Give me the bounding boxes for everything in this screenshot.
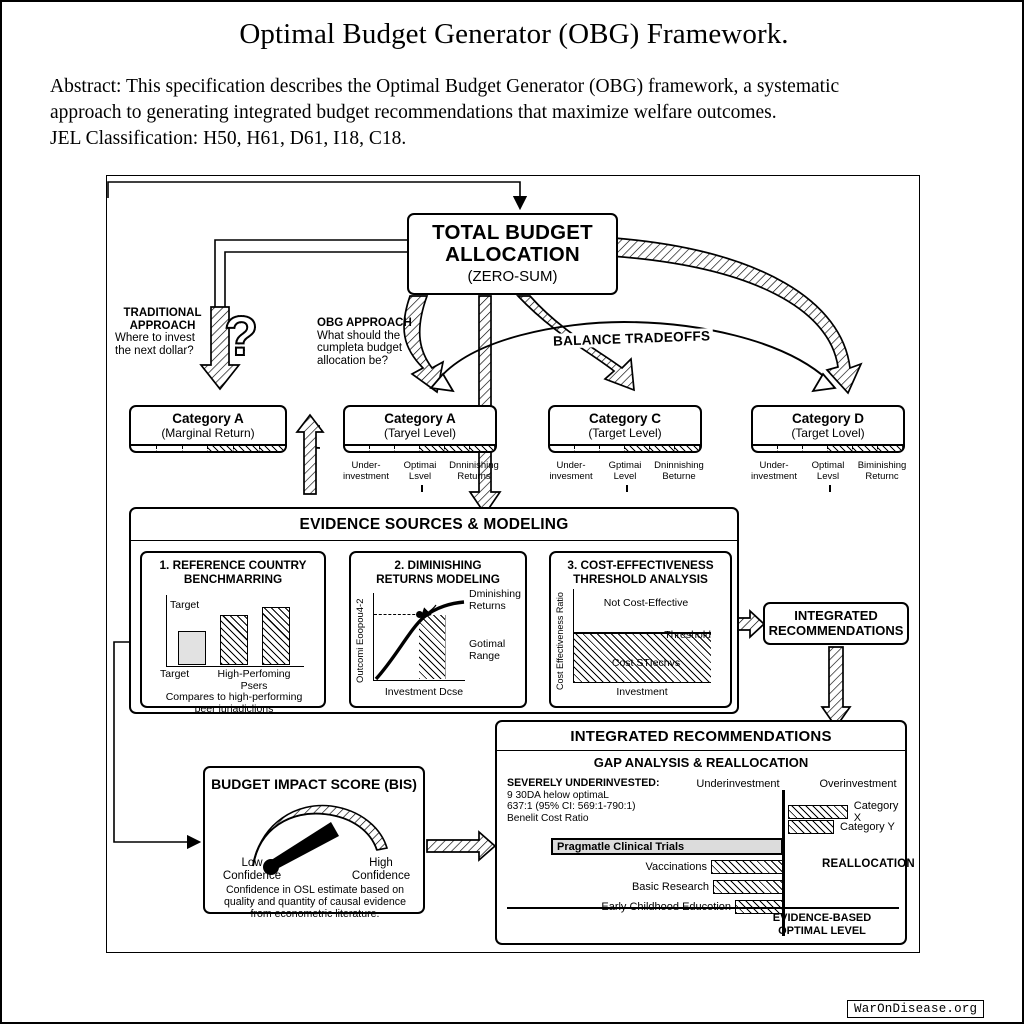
bis-low-label: Low Confidence: [217, 857, 287, 882]
category-box-d[interactable]: Category D (Target Lovel): [751, 405, 905, 453]
tba-line1: TOTAL BUDGET: [432, 222, 593, 244]
dr-xlabel: Investment Dcse: [369, 686, 479, 698]
traditional-approach-caption: TRADITIONAL APPROACH Where to invest the…: [115, 307, 210, 358]
dr-note-diminishing: Dminishing Returns: [469, 589, 521, 612]
optimal-level-pointer-icon: [416, 452, 424, 453]
diagram-page: Optimal Budget Generator (OBG) Framework…: [0, 0, 1024, 1024]
abstract-line-3: JEL Classification: H50, H61, D61, I18, …: [50, 126, 990, 152]
optimal-tick-d: [829, 485, 831, 492]
category-name: Category D: [753, 411, 903, 426]
highlighted-bar-row[interactable]: Pragmatle Clinical Trials: [551, 838, 783, 855]
bar-row-basic-research[interactable]: Basic Research: [617, 880, 783, 894]
sev-line-3: Benelit Cost Ratio: [507, 813, 697, 825]
category-bar: [131, 444, 285, 453]
page-title: Optimal Budget Generator (OBG) Framework…: [2, 18, 1024, 51]
zone-label-under: Under- investment: [747, 461, 801, 482]
optimal-tick-c: [626, 485, 628, 492]
tba-line3: (ZERO-SUM): [468, 267, 558, 286]
category-subtitle: (Target Level): [550, 426, 700, 440]
bis-low-2: Confidence: [217, 870, 287, 883]
bis-footer: Confidence in OSL estimate based on qual…: [211, 884, 419, 920]
panel-title-2: THRESHOLD ANALYSIS: [551, 573, 730, 587]
dr-ylabel: Outcomi Eoopou4-2: [355, 593, 369, 689]
ce-ylabel: Cost Effectiveness Ratio: [555, 589, 569, 693]
traditional-heading-2: APPROACH: [115, 320, 210, 333]
highlighted-bar-label: Pragmatle Clinical Trials: [553, 841, 684, 853]
bis-title: BUDGET IMPACT SCORE (BIS): [205, 768, 423, 792]
gap-baseline: [507, 907, 899, 909]
dr-note-1a: Dminishing: [469, 589, 521, 601]
zone-label-optimal: Optimai Lsvel: [393, 461, 447, 482]
category-bar: [345, 444, 495, 453]
bis-footer-1: Confidence in OSL estimate based on: [211, 884, 419, 896]
legend-swatch-x: [788, 805, 848, 819]
obg-approach-caption: OBG APPROACH What should the cumpleta bu…: [317, 317, 412, 368]
integrated-recommendations-node[interactable]: INTEGRATED RECOMMENDATIONS: [763, 602, 909, 645]
ce-xlabel: Investment: [573, 686, 711, 698]
bis-high-1: High: [343, 857, 419, 870]
column-header-overinvestment: Overinvestment: [797, 778, 919, 790]
gap-analysis-panel: INTEGRATED RECOMMENDATIONS GAP ANALYSIS …: [495, 720, 907, 945]
category-box-a-marginal[interactable]: Category A (Marginal Return): [129, 405, 287, 453]
tba-line2: ALLOCATION: [445, 244, 580, 266]
total-budget-allocation-node[interactable]: TOTAL BUDGET ALLOCATION (ZERO-SUM): [407, 213, 618, 295]
dr-note-2a: Gotimal: [469, 639, 505, 651]
zone-labels-d: Under- investment Optimal Levsl Biminish…: [747, 461, 909, 482]
abstract-block: Abstract: This specification describes t…: [50, 74, 990, 152]
category-box-c[interactable]: Category C (Target Level): [548, 405, 702, 453]
column-header-underinvestment: Underinvestment: [675, 778, 801, 790]
category-name: Category C: [550, 411, 700, 426]
benchmark-footer-2: peer juriadiclions: [146, 704, 322, 716]
bis-footer-3: from econometric literature.: [211, 908, 419, 920]
dr-note-2b: Range: [469, 651, 505, 663]
zone-label-diminishing: Dninnishing Beturne: [652, 461, 706, 482]
category-bar: [753, 444, 903, 453]
category-bar: [550, 444, 700, 453]
evidence-panel-diminishing-returns[interactable]: 2. DIMINISHING RETURNS MODELING Outcomi …: [349, 551, 527, 708]
gap-subtitle: GAP ANALYSIS & REALLOCATION: [497, 751, 905, 770]
zone-label-diminishing: Dnninishing Returns: [447, 461, 501, 482]
zone-label-under: Under- invesment: [544, 461, 598, 482]
panel-title-1: 2. DIMINISHING: [351, 553, 525, 573]
category-subtitle: (Marginal Return): [131, 426, 285, 440]
gap-title: INTEGRATED RECOMMENDATIONS: [497, 722, 905, 745]
bis-footer-2: quality and quantity of causal evidence: [211, 896, 419, 908]
optimal-level-pointer-icon: [621, 452, 629, 453]
bar-label-target: Target: [170, 599, 199, 611]
evidence-panel-cost-effectiveness[interactable]: 3. COST-EFFECTIVENESS THRESHOLD ANALYSIS…: [549, 551, 732, 708]
reallocation-label: REALLOCATION: [822, 858, 915, 870]
traditional-heading-1: TRADITIONAL: [115, 307, 210, 320]
dr-plot: [373, 593, 465, 681]
bar-peer-1: [220, 615, 248, 665]
ir-line2: RECOMMENDATIONS: [769, 624, 904, 639]
bar-target: [178, 631, 206, 665]
legend-label-y: Category Y: [840, 821, 895, 833]
abstract-line-1: Abstract: This specification describes t…: [50, 74, 990, 100]
benchmark-footer: Compares to high-performing peer juriadi…: [146, 692, 322, 715]
bar-row-vaccinations[interactable]: Vaccinations: [617, 860, 783, 874]
ir-line1: INTEGRATED: [794, 609, 878, 624]
optimal-tick-a: [421, 485, 423, 492]
obg-body-3: allocation be?: [317, 355, 412, 368]
bar-label: Vaccinations: [645, 861, 707, 873]
obg-heading: OBG APPROACH: [317, 317, 412, 330]
optimal-level-pointer-icon: [824, 452, 832, 453]
traditional-body-2: the next dollar?: [115, 345, 210, 358]
panel-title-2: RETURNS MODELING: [351, 573, 525, 587]
category-subtitle: (Taryel Level): [345, 426, 495, 440]
bar-label: Basic Research: [632, 881, 709, 893]
ebol-line-2: OPTIMAL LEVEL: [737, 925, 907, 938]
evidence-title: EVIDENCE SOURCES & MODELING: [131, 509, 737, 534]
legend-item-category-y: Category Y: [788, 820, 895, 834]
panel-title-1: 1. REFERENCE COUNTRY: [142, 553, 324, 573]
zone-label-under: Under- investment: [339, 461, 393, 482]
budget-impact-score-panel[interactable]: BUDGET IMPACT SCORE (BIS) Low Confidence…: [203, 766, 425, 914]
panel-title-2: BENCHMARRING: [142, 573, 324, 587]
abstract-line-2: approach to generating integrated budget…: [50, 100, 990, 126]
sev-line-2: 637:1 (95% CI: 569:1-790:1): [507, 801, 697, 813]
bar-fill: [711, 860, 783, 874]
zone-labels-c: Under- invesment Gptimai Level Dninnishi…: [544, 461, 706, 482]
evidence-panel-benchmarking[interactable]: 1. REFERENCE COUNTRY BENCHMARRING Target…: [140, 551, 326, 708]
bis-high-label: High Confidence: [343, 857, 419, 882]
ce-threshold-label: Threshold: [611, 629, 711, 641]
obg-body-1: What should the: [317, 330, 412, 343]
benchmark-footer-1: Compares to high-performing: [146, 692, 322, 704]
sev-line-1: 9 30DA helow optimaL: [507, 790, 697, 802]
xlabel-target: Target: [160, 669, 189, 681]
dr-note-optimal: Gotimal Range: [469, 639, 505, 662]
zone-labels-a: Under- investment Optimai Lsvel Dnninish…: [339, 461, 501, 482]
dr-inflection-point: [416, 611, 423, 618]
bis-low-1: Low: [217, 857, 287, 870]
question-mark-icon: ?: [224, 308, 258, 364]
zone-label-diminishing: Biminishing Returnc: [855, 461, 909, 482]
category-subtitle: (Target Lovel): [753, 426, 903, 440]
bis-high-2: Confidence: [343, 870, 419, 883]
obg-body-2: cumpleta budget: [317, 342, 412, 355]
traditional-body-1: Where to invest: [115, 332, 210, 345]
sev-heading: SEVERELY UNDERINVESTED:: [507, 778, 697, 790]
severely-underinvested-block: SEVERELY UNDERINVESTED: 9 30DA helow opt…: [507, 778, 697, 824]
legend-swatch-y: [788, 820, 834, 834]
evidence-divider: [131, 540, 737, 541]
evidence-based-optimal-label: EVIDENCE-BASED OPTIMAL LEVEL: [737, 912, 907, 937]
evidence-sources-section: EVIDENCE SOURCES & MODELING 1. REFERENCE…: [129, 507, 739, 714]
ce-region-top: Not Cost-Effective: [581, 597, 711, 609]
category-box-a-target[interactable]: Category A (Taryel Level): [343, 405, 497, 453]
watermark: WarOnDisease.org: [847, 1000, 984, 1018]
ebol-line-1: EVIDENCE-BASED: [737, 912, 907, 925]
category-name: Category A: [131, 411, 285, 426]
zone-label-optimal: Optimal Levsl: [801, 461, 855, 482]
panel-title-1: 3. COST-EFFECTIVENESS: [551, 553, 730, 573]
bar-fill: [713, 880, 783, 894]
ce-region-bottom: Cost STIechvs: [581, 657, 711, 669]
category-name: Category A: [345, 411, 495, 426]
dr-note-1b: Returns: [469, 601, 521, 613]
zone-label-optimal: Gptimai Level: [598, 461, 652, 482]
xlabel-peers: High-Perfoming Psers: [206, 669, 302, 692]
bar-peer-2: [262, 607, 290, 665]
